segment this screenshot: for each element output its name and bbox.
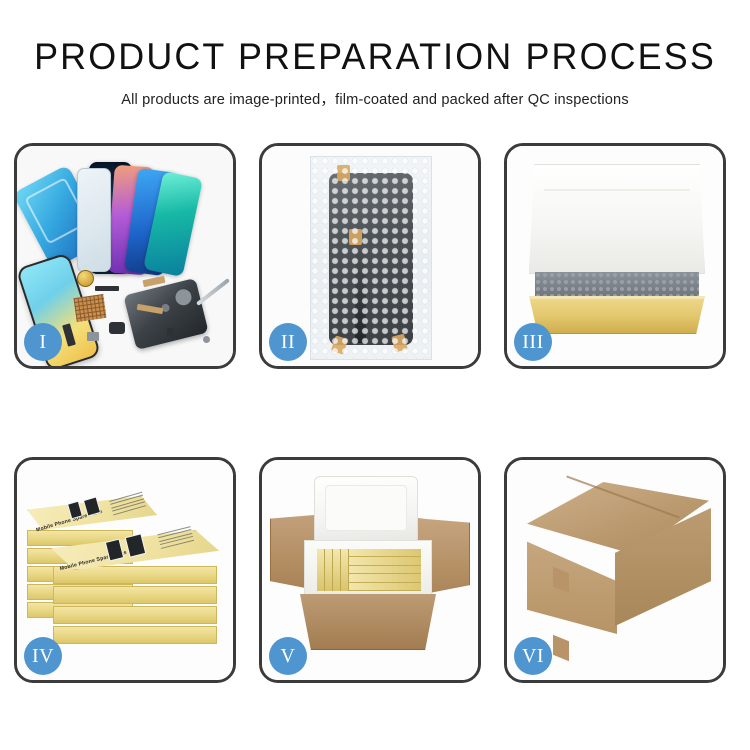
kraft-box-tray	[529, 296, 705, 334]
process-step-5: V	[259, 457, 481, 683]
part-bar-icon	[95, 286, 119, 291]
stack-box-front-3	[53, 606, 217, 624]
process-step-grid: I II I	[14, 143, 736, 683]
packed-box-v1	[317, 549, 325, 591]
white-box-lid	[529, 164, 705, 274]
carton-body	[300, 594, 436, 650]
step-badge-1: I	[24, 323, 62, 361]
step-badge-4: IV	[24, 637, 62, 675]
page-title: PRODUCT PREPARATION PROCESS	[11, 38, 739, 77]
tempered-glass-icon	[77, 168, 111, 272]
process-step-3: III	[504, 143, 726, 369]
screwdriver-icon	[196, 278, 230, 306]
process-step-2: II	[259, 143, 481, 369]
step-badge-3: III	[514, 323, 552, 361]
process-step-4: Mobile Phone Spare Parts Mobile Phone Sp…	[14, 457, 236, 683]
stack-box-front-4	[53, 626, 217, 644]
page-subtitle: All products are image-printed，film-coat…	[0, 88, 750, 109]
small-part-icon-1	[87, 332, 99, 341]
packed-retail-boxes	[317, 549, 421, 591]
stack-box-front-2	[53, 586, 217, 604]
screw-icon	[203, 336, 210, 343]
header: PRODUCT PREPARATION PROCESS All products…	[0, 0, 750, 109]
carton-tape-2	[553, 635, 569, 661]
phone-backplate-icon	[123, 278, 208, 350]
foam-liner	[304, 540, 432, 598]
packed-box-horizontal-group	[349, 549, 421, 591]
grey-bubble-wrap-contents	[535, 272, 699, 298]
product-preparation-infographic: PRODUCT PREPARATION PROCESS All products…	[0, 0, 750, 750]
process-step-6: VI	[504, 457, 726, 683]
packed-box-v3	[333, 549, 341, 591]
bubble-wrap-bag	[310, 156, 432, 360]
process-step-1: I	[14, 143, 236, 369]
connector-icon-2	[109, 322, 125, 334]
packed-box-v2	[325, 549, 333, 591]
step-badge-5: V	[269, 637, 307, 675]
round-metal-part-icon	[77, 270, 94, 287]
step-badge-2: II	[269, 323, 307, 361]
copper-mesh-part-icon	[73, 294, 106, 322]
bubble-texture	[311, 157, 431, 359]
foam-lid	[314, 476, 418, 544]
small-part-icon-3	[167, 328, 174, 337]
step-badge-6: VI	[514, 637, 552, 675]
packed-box-v4	[341, 549, 349, 591]
